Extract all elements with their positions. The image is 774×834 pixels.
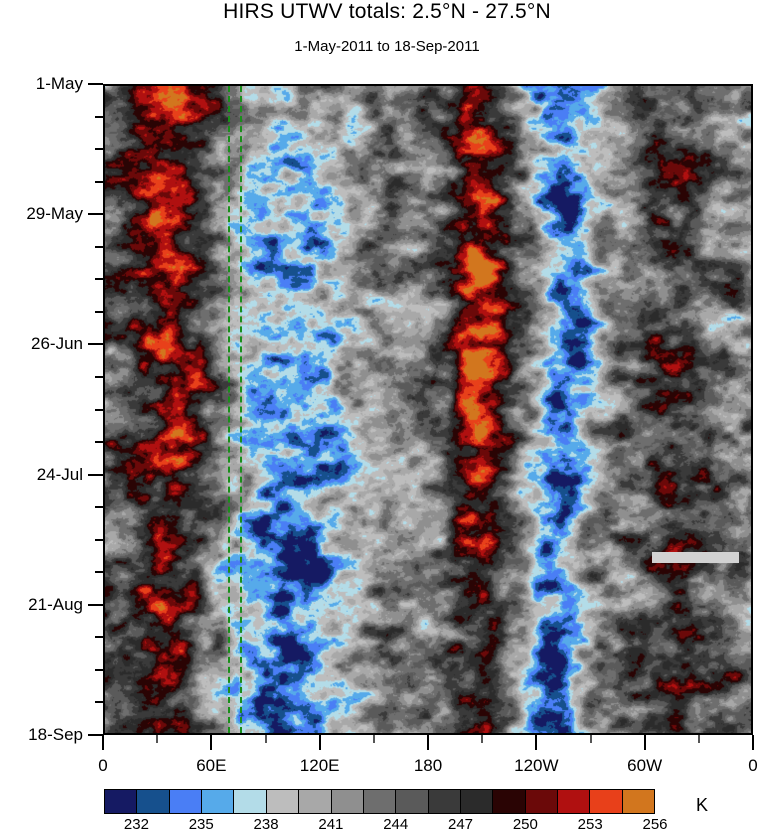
y-tick-major [88,83,103,85]
chart-page: HIRS UTWV totals: 2.5°N - 27.5°N 1-May-2… [0,0,774,834]
x-axis-label: 120W [514,756,558,776]
colorbar-swatch[interactable] [461,790,493,813]
colorbar-swatch[interactable] [493,790,525,813]
colorbar-tick-label: 244 [383,816,408,833]
meridian-line-1-icon [228,86,230,733]
y-axis-label: 29-May [26,204,83,224]
hovmoller-plot-area [103,84,753,735]
meridian-line-2-icon [240,86,242,733]
x-tick-minor [481,735,483,743]
x-axis-label: 0 [98,756,107,776]
colorbar-tick-label: 256 [642,816,667,833]
y-tick-minor [95,246,103,248]
y-tick-minor [95,636,103,638]
colorbar-tick-label: 232 [124,816,149,833]
page-subtitle: 1-May-2011 to 18-Sep-2011 [0,38,774,55]
x-tick-minor [265,735,267,743]
y-tick-minor [95,148,103,150]
y-tick-minor [95,539,103,541]
y-tick-minor [95,278,103,280]
y-axis-label: 1-May [36,74,83,94]
colorbar-swatch[interactable] [299,790,331,813]
y-tick-minor [95,441,103,443]
x-axis-label: 60W [627,756,662,776]
colorbar[interactable] [104,789,655,814]
colorbar-swatch[interactable] [526,790,558,813]
x-tick-minor [590,735,592,743]
y-tick-minor [95,376,103,378]
y-axis-label: 24-Jul [37,465,83,485]
colorbar-swatch[interactable] [170,790,202,813]
colorbar-swatch[interactable] [202,790,234,813]
colorbar-swatch[interactable] [590,790,622,813]
y-tick-major [88,734,103,736]
colorbar-swatch[interactable] [267,790,299,813]
colorbar-unit-label: K [696,795,708,816]
y-axis-label: 21-Aug [28,595,83,615]
x-tick-major [644,735,646,750]
y-tick-minor [95,571,103,573]
x-tick-major [535,735,537,750]
x-tick-minor [373,735,375,743]
x-tick-minor [156,735,158,743]
colorbar-tick-label: 235 [189,816,214,833]
colorbar-tick-label: 247 [448,816,473,833]
y-tick-minor [95,311,103,313]
data-gap-bar [652,552,739,563]
y-axis-label: 26-Jun [31,334,83,354]
colorbar-swatch[interactable] [623,790,654,813]
x-tick-major [427,735,429,750]
x-axis-label: 0 [748,756,757,776]
y-tick-minor [95,701,103,703]
x-tick-major [319,735,321,750]
x-axis-label: 180 [414,756,442,776]
x-tick-major [210,735,212,750]
y-tick-minor [95,506,103,508]
colorbar-swatch[interactable] [364,790,396,813]
colorbar-swatch[interactable] [396,790,428,813]
colorbar-tick-label: 241 [318,816,343,833]
y-tick-minor [95,116,103,118]
y-tick-major [88,474,103,476]
y-tick-major [88,604,103,606]
y-tick-major [88,213,103,215]
colorbar-swatch[interactable] [558,790,590,813]
y-tick-major [88,343,103,345]
colorbar-swatch[interactable] [332,790,364,813]
colorbar-swatch[interactable] [137,790,169,813]
y-axis-label: 18-Sep [28,725,83,745]
colorbar-swatch[interactable] [429,790,461,813]
y-tick-minor [95,409,103,411]
colorbar-tick-label: 238 [254,816,279,833]
temperature-field [105,86,751,733]
y-tick-minor [95,669,103,671]
colorbar-swatch[interactable] [105,790,137,813]
x-tick-major [102,735,104,750]
page-title: HIRS UTWV totals: 2.5°N - 27.5°N [0,0,774,24]
x-axis-label: 60E [196,756,226,776]
x-axis-label: 120E [300,756,340,776]
x-tick-major [752,735,754,750]
colorbar-tick-label: 250 [513,816,538,833]
y-tick-minor [95,181,103,183]
colorbar-tick-label: 253 [578,816,603,833]
colorbar-swatch[interactable] [234,790,266,813]
x-tick-minor [698,735,700,743]
